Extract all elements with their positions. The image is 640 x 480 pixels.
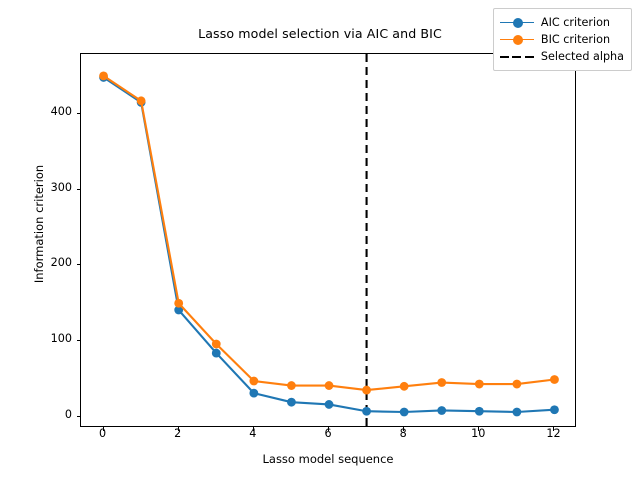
plot-area: [80, 53, 576, 427]
series-line: [104, 77, 555, 412]
data-point: [512, 408, 521, 417]
data-point: [287, 381, 296, 390]
legend-marker-dot: [513, 35, 523, 45]
data-point: [475, 407, 484, 416]
data-point: [174, 299, 183, 308]
data-point: [362, 407, 371, 416]
data-point: [212, 349, 221, 358]
x-tick-label: 6: [308, 427, 348, 440]
y-tick-label: 0: [20, 408, 72, 421]
chart-legend: AIC criterionBIC criterionSelected alpha: [493, 8, 632, 71]
y-tick-mark: [77, 416, 81, 417]
y-tick-label: 200: [20, 256, 72, 269]
legend-swatch: [500, 50, 534, 64]
data-point: [287, 398, 296, 407]
data-point: [437, 378, 446, 387]
data-point: [99, 72, 108, 81]
data-point: [137, 96, 146, 105]
legend-swatch: [500, 33, 534, 47]
x-tick-label: 12: [533, 427, 573, 440]
legend-label: AIC criterion: [541, 16, 610, 29]
y-tick-mark: [77, 189, 81, 190]
x-tick-label: 0: [83, 427, 123, 440]
legend-dash-segment: [512, 56, 521, 58]
legend-dash-segment: [500, 56, 509, 58]
y-axis-label: Information criterion: [32, 37, 46, 411]
data-point: [400, 382, 409, 391]
series-2: [99, 72, 559, 395]
legend-swatch: [500, 16, 534, 30]
matplotlib-figure: Lasso model selection via AIC and BIC La…: [0, 0, 640, 480]
data-point: [325, 381, 334, 390]
y-tick-mark: [77, 113, 81, 114]
data-point: [550, 375, 559, 384]
data-point: [400, 408, 409, 417]
legend-item: BIC criterion: [500, 31, 624, 48]
x-axis-label: Lasso model sequence: [80, 452, 576, 466]
data-point: [437, 406, 446, 415]
data-point: [325, 400, 334, 409]
y-tick-label: 300: [20, 181, 72, 194]
legend-label: BIC criterion: [541, 33, 610, 46]
x-tick-label: 2: [158, 427, 198, 440]
data-point: [212, 340, 221, 349]
legend-item: Selected alpha: [500, 48, 624, 65]
data-point: [249, 377, 258, 386]
legend-dash-segment: [525, 56, 534, 58]
data-point: [550, 405, 559, 414]
series-line: [104, 76, 555, 390]
y-tick-mark: [77, 340, 81, 341]
data-point: [362, 386, 371, 395]
data-canvas: [81, 54, 577, 428]
y-tick-label: 400: [20, 105, 72, 118]
y-tick-label: 100: [20, 332, 72, 345]
data-point: [512, 380, 521, 389]
x-tick-label: 10: [458, 427, 498, 440]
x-tick-label: 4: [233, 427, 273, 440]
legend-label: Selected alpha: [541, 50, 624, 63]
legend-marker-dot: [513, 18, 523, 28]
legend-item: AIC criterion: [500, 14, 624, 31]
data-point: [475, 380, 484, 389]
x-tick-label: 8: [383, 427, 423, 440]
y-tick-mark: [77, 264, 81, 265]
data-point: [249, 389, 258, 398]
